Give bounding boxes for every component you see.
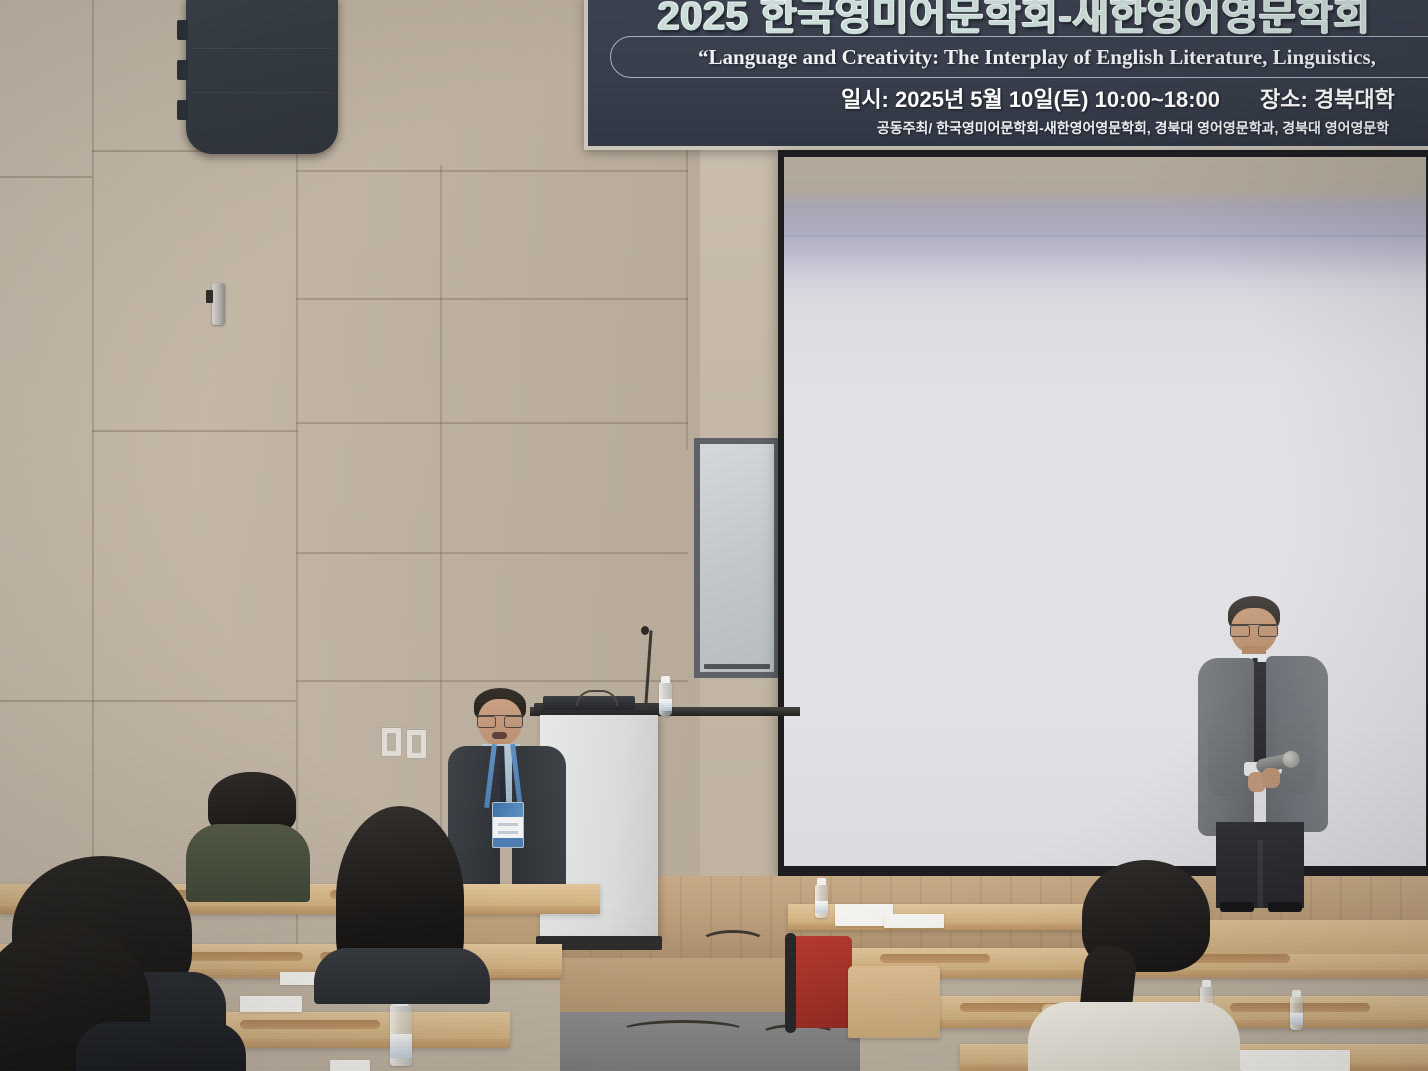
presenter-shoe-right [1268,902,1302,912]
wall-seam [296,552,688,554]
banner-date: 일시: 2025년 5월 10일(토) 10:00~18:00 [841,82,1220,114]
wall-seam [296,170,688,172]
banner-hosts: 공동주최/ 한국영미어문학회-새한영어영문학회, 경북대 영어영문학과, 경북대… [713,118,1428,138]
audience-member-front-left [0,926,200,1071]
red-chair[interactable] [790,936,852,1028]
audience-member-ponytail-right [1022,860,1238,1071]
document-on-desk[interactable] [330,1060,370,1071]
presenter-arm-left [1208,716,1246,796]
wall-outlet[interactable] [381,727,402,757]
document-on-desk[interactable] [884,914,944,928]
audience-torso [314,948,490,1004]
wall-seam [92,430,298,432]
eyeglasses-icon [476,715,524,727]
banner-place: 장소: 경북대학 [1260,82,1395,114]
wall-seam [296,422,688,424]
floor-cable [620,1020,746,1042]
host-mouth [492,732,507,739]
wall-sensor-icon [212,283,225,325]
audience-torso [1028,1002,1240,1071]
wall-seam [92,0,94,905]
conference-name-badge [492,802,524,848]
ceiling-line-array-speaker-icon [186,0,338,154]
banner-subtitle-frame: “Language and Creativity: The Interplay … [610,36,1428,78]
document-on-desk[interactable] [1240,1050,1350,1071]
microphone-head-icon [641,626,649,635]
wall-seam [296,298,688,300]
water-bottle[interactable] [1290,996,1303,1030]
water-bottle[interactable] [815,884,828,918]
whiteboard-tray [704,664,770,669]
audience-member-olive-jacket [186,772,310,900]
conference-banner: 2025 한국영미어문학회-새한영어영문학회 “Language and Cre… [584,0,1428,150]
projection-screen [778,150,1428,878]
presenter-hand-right [1262,768,1280,788]
water-bottle[interactable] [390,1004,412,1066]
wooden-chair-back[interactable] [848,966,940,1038]
banner-subtitle: “Language and Creativity: The Interplay … [698,45,1376,70]
audience-member-long-hair-center [310,806,492,996]
floor-cable [700,930,766,954]
banner-info-row: 일시: 2025년 5월 10일(토) 10:00~18:00 장소: 경북대학 [698,82,1428,114]
audience-torso [186,824,310,902]
whiteboard [694,438,780,678]
audience-torso [76,1022,246,1071]
lectern-cable [576,690,618,706]
document-on-desk[interactable] [240,996,302,1012]
wall-seam [440,165,442,900]
wall-outlet[interactable] [406,729,427,759]
lecture-hall-photo: 2025 한국영미어문학회-새한영어영문학회 “Language and Cre… [0,0,1428,1071]
wall-seam [0,700,296,702]
eyeglasses-icon [1229,624,1279,636]
water-bottle[interactable] [659,682,672,716]
wall-seam [296,680,688,682]
wall-seam [0,176,92,178]
